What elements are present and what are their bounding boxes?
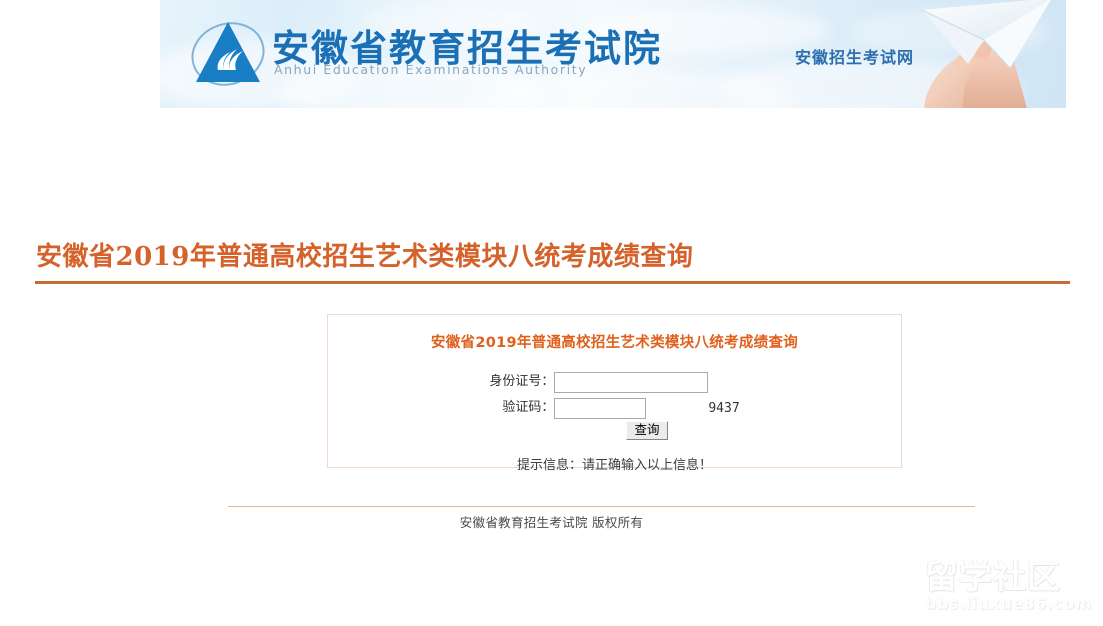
form-hint-message: 提示信息：请正确输入以上信息！: [328, 454, 901, 473]
watermark-url: bbs.liuxue86.com: [925, 594, 1097, 613]
captcha-input-cell: [554, 395, 708, 421]
brand-name-en: Anhui Education Examinations Authority: [274, 62, 587, 77]
id-number-input-cell: [554, 369, 708, 395]
captcha-row: 验证码： 9437: [489, 395, 739, 421]
captcha-input[interactable]: [554, 398, 646, 419]
id-number-row: 身份证号：: [489, 369, 739, 395]
site-banner: 安徽省教育招生考试院 Anhui Education Examinations …: [160, 0, 1066, 108]
query-submit-button[interactable]: 查询: [626, 421, 667, 440]
footer-divider: [228, 506, 975, 507]
footer-copyright: 安徽省教育招生考试院 版权所有: [0, 512, 1103, 531]
hand-paper-plane-icon: [796, 0, 1056, 108]
score-query-panel: 安徽省2019年普通高校招生艺术类模块八统考成绩查询 身份证号： 验证码： 94…: [327, 314, 902, 468]
title-divider: [35, 281, 1070, 284]
captcha-code[interactable]: 9437: [708, 395, 739, 421]
query-form: 身份证号： 验证码： 9437 查询: [489, 369, 739, 440]
watermark-text: 留学社区: [925, 558, 1097, 596]
id-number-input[interactable]: [554, 372, 708, 393]
page-title: 安徽省2019年普通高校招生艺术类模块八统考成绩查询: [36, 236, 693, 273]
site-watermark: 留学社区 bbs.liuxue86.com: [925, 558, 1097, 622]
captcha-label: 验证码：: [489, 395, 554, 421]
submit-row: 查询: [489, 421, 739, 440]
anhui-eea-logo-icon: [186, 12, 270, 96]
id-number-label: 身份证号：: [489, 369, 554, 395]
panel-heading: 安徽省2019年普通高校招生艺术类模块八统考成绩查询: [328, 331, 901, 352]
